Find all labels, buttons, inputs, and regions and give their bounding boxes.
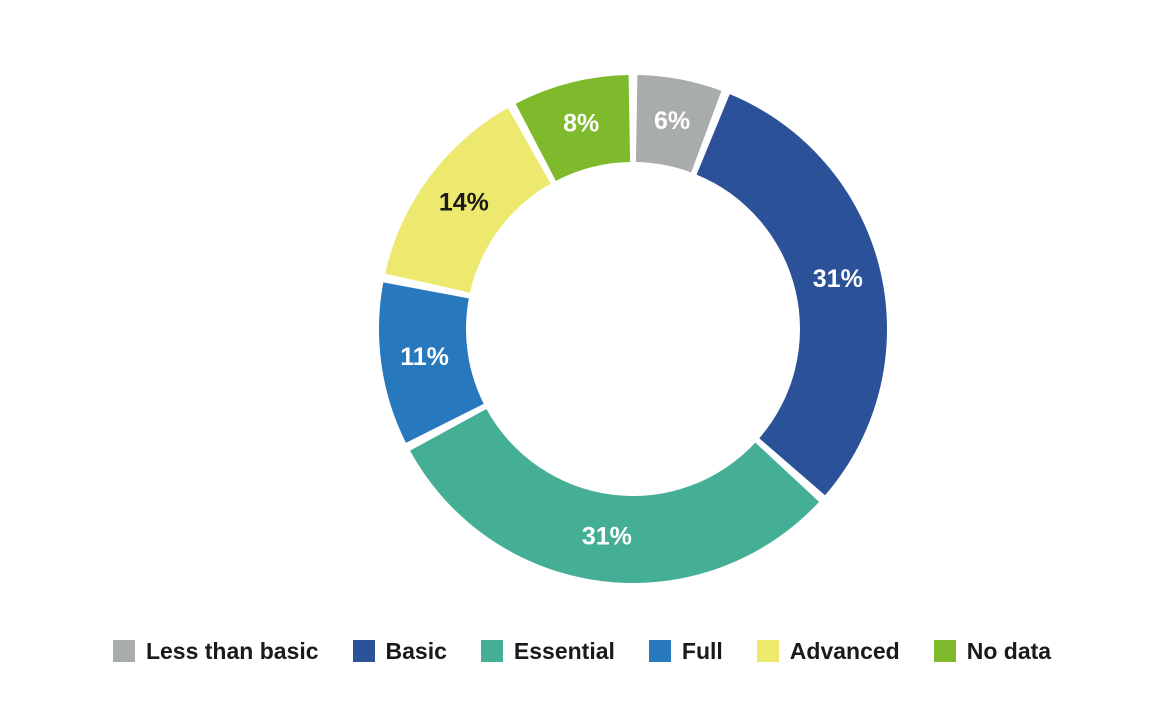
- chart-page: 6%31%31%11%14%8% Less than basicBasicEss…: [0, 0, 1164, 708]
- donut-slice-basic[interactable]: [697, 94, 887, 495]
- legend-item-no-data[interactable]: No data: [934, 640, 1051, 663]
- slice-value-label-advanced: 14%: [439, 188, 489, 216]
- donut-slice-group: [379, 75, 887, 583]
- donut-chart-area: 6%31%31%11%14%8%: [0, 0, 1164, 610]
- donut-chart-svg: 6%31%31%11%14%8%: [0, 0, 1164, 610]
- slice-value-label-essential: 31%: [582, 522, 632, 550]
- legend-swatch-icon: [113, 640, 135, 662]
- legend-item-label: Full: [682, 640, 723, 663]
- legend-swatch-icon: [934, 640, 956, 662]
- legend-swatch-icon: [481, 640, 503, 662]
- slice-value-label-less-than-basic: 6%: [654, 107, 690, 135]
- legend-swatch-icon: [757, 640, 779, 662]
- legend-item-essential[interactable]: Essential: [481, 640, 615, 663]
- slice-value-label-basic: 31%: [813, 265, 863, 293]
- legend-item-full[interactable]: Full: [649, 640, 723, 663]
- legend-swatch-icon: [353, 640, 375, 662]
- legend-item-label: Basic: [386, 640, 447, 663]
- legend-item-advanced[interactable]: Advanced: [757, 640, 900, 663]
- legend-item-label: Advanced: [790, 640, 900, 663]
- legend-item-basic[interactable]: Basic: [353, 640, 447, 663]
- legend-swatch-icon: [649, 640, 671, 662]
- slice-value-label-full: 11%: [400, 343, 449, 371]
- legend-item-less-than-basic[interactable]: Less than basic: [113, 640, 319, 663]
- chart-legend: Less than basicBasicEssentialFullAdvance…: [0, 628, 1164, 674]
- legend-item-label: Essential: [514, 640, 615, 663]
- legend-item-label: Less than basic: [146, 640, 319, 663]
- slice-value-label-no-data: 8%: [563, 110, 599, 138]
- legend-item-label: No data: [967, 640, 1051, 663]
- donut-slice-essential[interactable]: [410, 409, 819, 583]
